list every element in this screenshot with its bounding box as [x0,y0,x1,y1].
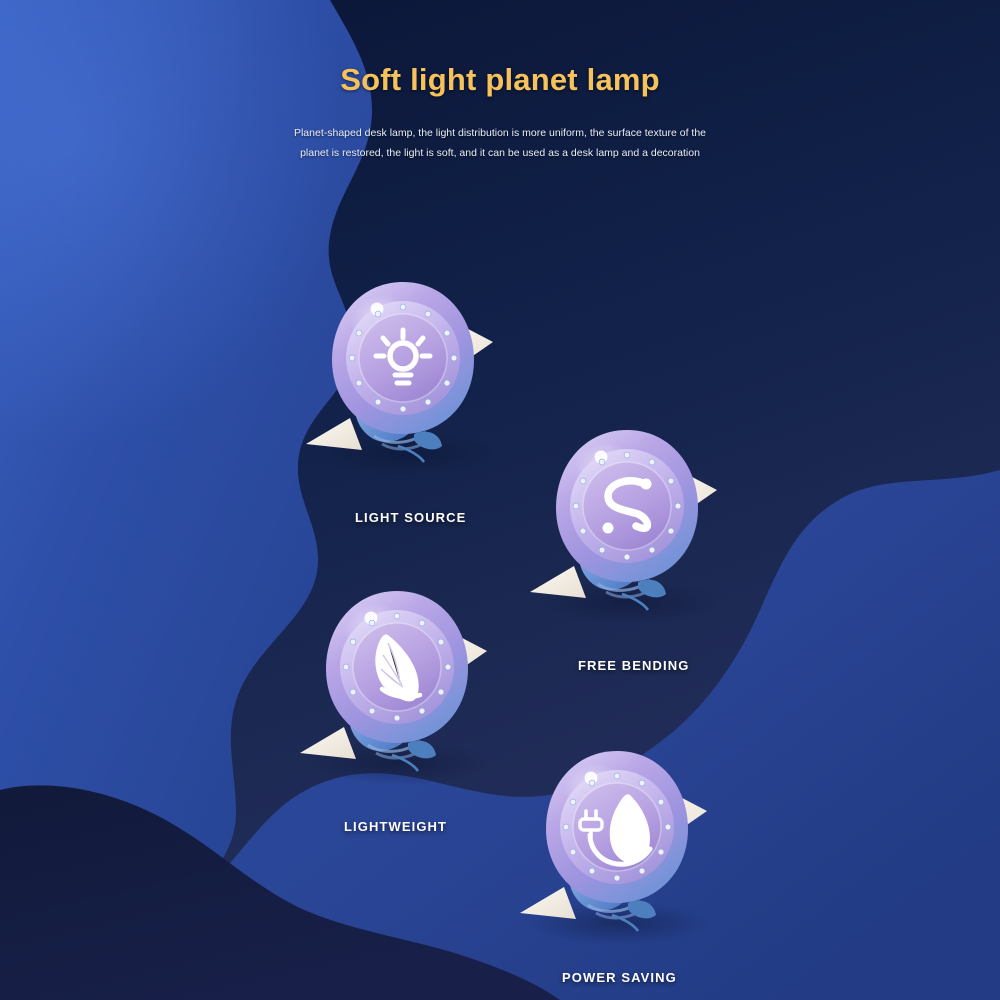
lamp-illustration-lightweight [282,577,512,792]
header: Soft light planet lamp Planet-shaped des… [0,0,1000,163]
feature-label-power-saving: POWER SAVING [562,970,677,985]
page-title: Soft light planet lamp [0,0,1000,98]
product-banner: Soft light planet lamp Planet-shaped des… [0,0,1000,1000]
feature-label-lightweight: LIGHTWEIGHT [344,819,447,834]
lamp-illustration-power-saving [502,737,732,952]
lamp-illustration-free-bending [512,416,742,631]
feature-label-light-source: LIGHT SOURCE [355,510,466,525]
lamp-illustration-light-source [288,268,518,483]
page-description: Planet-shaped desk lamp, the light distr… [290,98,710,163]
feature-label-free-bending: FREE BENDING [578,658,689,673]
